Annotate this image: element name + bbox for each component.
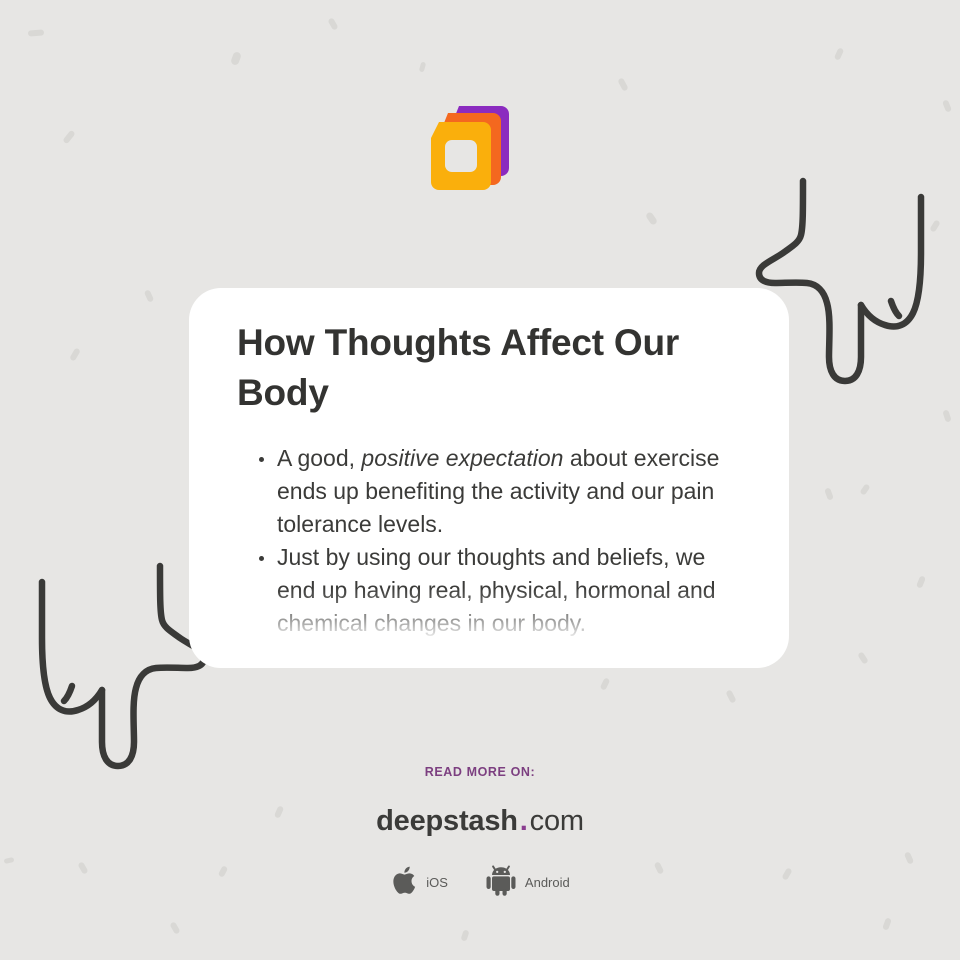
ios-store-badge[interactable]: iOS: [390, 864, 448, 901]
idea-card-content: How Thoughts Affect Our Body A good, pos…: [189, 288, 789, 640]
confetti-speck: [882, 917, 892, 930]
confetti-speck: [824, 487, 834, 500]
deepstash-wordmark[interactable]: deepstash.com: [0, 807, 960, 836]
confetti-speck: [929, 219, 940, 232]
ios-label: iOS: [426, 875, 448, 890]
confetti-speck: [28, 29, 44, 36]
apple-icon: [390, 864, 417, 901]
confetti-speck: [617, 77, 628, 91]
idea-emphasis: positive expectation: [361, 445, 563, 471]
pointing-hand-left-icon: [18, 550, 218, 790]
confetti-speck: [725, 689, 736, 703]
confetti-speck: [169, 921, 180, 934]
poster-canvas: How Thoughts Affect Our Body A good, pos…: [0, 0, 960, 960]
idea-text: Just by using our thoughts and beliefs, …: [277, 544, 716, 636]
confetti-speck: [419, 62, 426, 73]
wordmark-tld: com: [530, 805, 584, 837]
idea-bullet: A good, positive expectation about exerc…: [259, 442, 741, 541]
read-more-label: READ MORE ON:: [0, 765, 960, 779]
idea-bullet: Just by using our thoughts and beliefs, …: [259, 541, 741, 640]
confetti-speck: [69, 347, 81, 361]
confetti-speck: [942, 409, 951, 422]
confetti-speck: [834, 47, 845, 60]
wordmark-name: deepstash: [376, 805, 518, 837]
store-badges: iOS: [0, 864, 960, 901]
idea-text: A good,: [277, 445, 361, 471]
android-label: Android: [525, 875, 570, 890]
idea-card: How Thoughts Affect Our Body A good, pos…: [189, 288, 789, 668]
confetti-speck: [859, 483, 870, 495]
android-icon: [486, 864, 516, 901]
idea-list: A good, positive expectation about exerc…: [237, 442, 741, 640]
android-store-badge[interactable]: Android: [486, 864, 570, 901]
confetti-speck: [857, 651, 869, 664]
confetti-speck: [230, 51, 242, 66]
logo-inner-cutout: [445, 140, 477, 172]
confetti-speck: [600, 677, 611, 690]
footer: READ MORE ON: deepstash.com iOS: [0, 765, 960, 901]
deepstash-logo: [425, 100, 521, 196]
confetti-speck: [62, 130, 75, 145]
confetti-speck: [916, 575, 926, 588]
confetti-speck: [144, 289, 155, 302]
page-title: How Thoughts Affect Our Body: [237, 318, 741, 418]
confetti-speck: [645, 211, 658, 226]
confetti-speck: [327, 17, 338, 30]
confetti-speck: [460, 929, 469, 941]
confetti-speck: [942, 99, 952, 112]
wordmark-dot: .: [518, 805, 530, 837]
